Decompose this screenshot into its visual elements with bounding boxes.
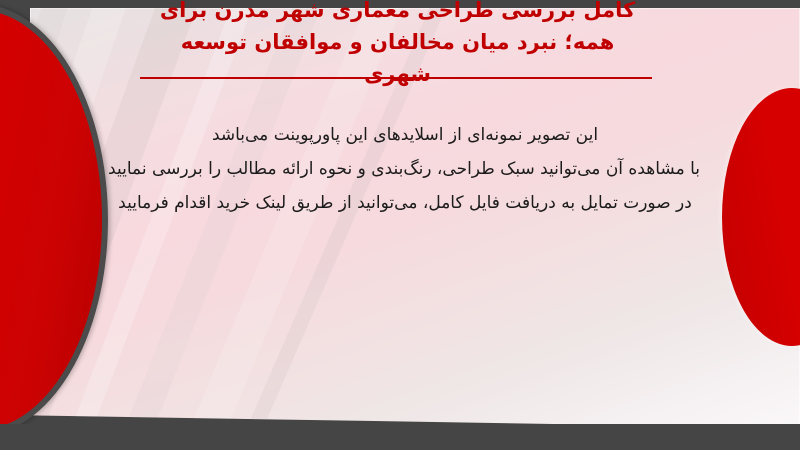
slide-body-text: این تصویر نمونه‌ای از اسلایدهای این پاور… [110, 118, 700, 220]
title-underline-rule [140, 77, 652, 79]
title-line-1: کامل بررسی طراحی معماری شهر مدرن برای [95, 0, 700, 26]
title-line-2: همه؛ نبرد میان مخالفان و موافقان توسعه [95, 26, 700, 58]
title-line-3: شهری [95, 58, 700, 90]
body-line-3: در صورت تمایل به دریافت فایل کامل، می‌تو… [110, 186, 700, 220]
body-line-2: با مشاهده آن می‌توانید سبک طراحی، رنگ‌بن… [110, 152, 700, 186]
presentation-slide: کامل بررسی طراحی معماری شهر مدرن برای هم… [0, 0, 800, 450]
body-line-1: این تصویر نمونه‌ای از اسلایدهای این پاور… [110, 118, 700, 152]
slide-bottom-band [0, 424, 800, 450]
